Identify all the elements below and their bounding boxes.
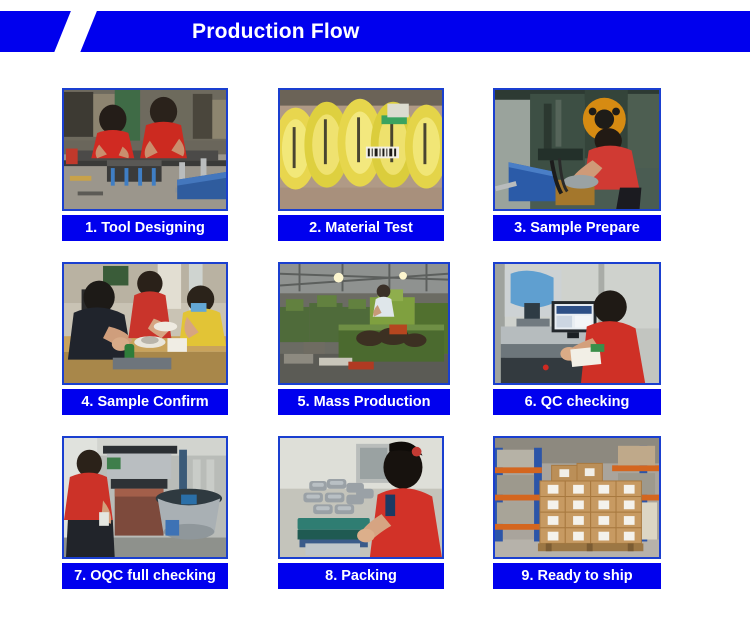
photo-illustration — [495, 90, 659, 210]
flow-step-card-2[interactable]: 2. Material Test — [278, 88, 444, 241]
photo-illustration — [64, 264, 226, 384]
page-title: Production Flow — [192, 11, 359, 52]
flow-step-card-7[interactable]: 7. OQC full checking — [62, 436, 228, 589]
step-caption-9: 9. Ready to ship — [493, 563, 661, 589]
step-caption-7: 7. OQC full checking — [62, 563, 228, 589]
flow-step-card-8[interactable]: 8. Packing — [278, 436, 444, 589]
step-caption-6: 6. QC checking — [493, 389, 661, 415]
production-flow-grid: 1. Tool Designing — [0, 88, 750, 610]
step-caption-4: 4. Sample Confirm — [62, 389, 228, 415]
photo-illustration — [64, 438, 226, 558]
flow-row-2: 4. Sample Confirm — [0, 262, 750, 436]
photo-illustration — [495, 264, 659, 384]
step-photo-tool-designing — [62, 88, 228, 211]
step-photo-material-test — [278, 88, 444, 211]
step-caption-5: 5. Mass Production — [278, 389, 450, 415]
step-photo-mass-production — [278, 262, 450, 385]
flow-row-3: 7. OQC full checking — [0, 436, 750, 610]
step-photo-sample-prepare — [493, 88, 661, 211]
step-caption-3: 3. Sample Prepare — [493, 215, 661, 241]
photo-illustration — [280, 264, 448, 384]
photo-illustration — [280, 90, 442, 210]
flow-step-card-4[interactable]: 4. Sample Confirm — [62, 262, 228, 415]
photo-illustration — [280, 438, 442, 558]
photo-illustration — [64, 90, 226, 210]
flow-row-1: 1. Tool Designing — [0, 88, 750, 262]
step-caption-1: 1. Tool Designing — [62, 215, 228, 241]
step-photo-packing — [278, 436, 444, 559]
flow-step-card-1[interactable]: 1. Tool Designing — [62, 88, 228, 241]
page-header-banner: Production Flow — [0, 11, 750, 52]
step-caption-8: 8. Packing — [278, 563, 444, 589]
step-photo-sample-confirm — [62, 262, 228, 385]
flow-step-card-5[interactable]: 5. Mass Production — [278, 262, 450, 415]
step-photo-ready-to-ship — [493, 436, 661, 559]
flow-step-card-3[interactable]: 3. Sample Prepare — [493, 88, 661, 241]
step-photo-oqc-full-checking — [62, 436, 228, 559]
photo-illustration — [495, 438, 659, 558]
banner-slash-decoration — [51, 11, 98, 52]
step-caption-2: 2. Material Test — [278, 215, 444, 241]
step-photo-qc-checking — [493, 262, 661, 385]
flow-step-card-6[interactable]: 6. QC checking — [493, 262, 661, 415]
flow-step-card-9[interactable]: 9. Ready to ship — [493, 436, 661, 589]
